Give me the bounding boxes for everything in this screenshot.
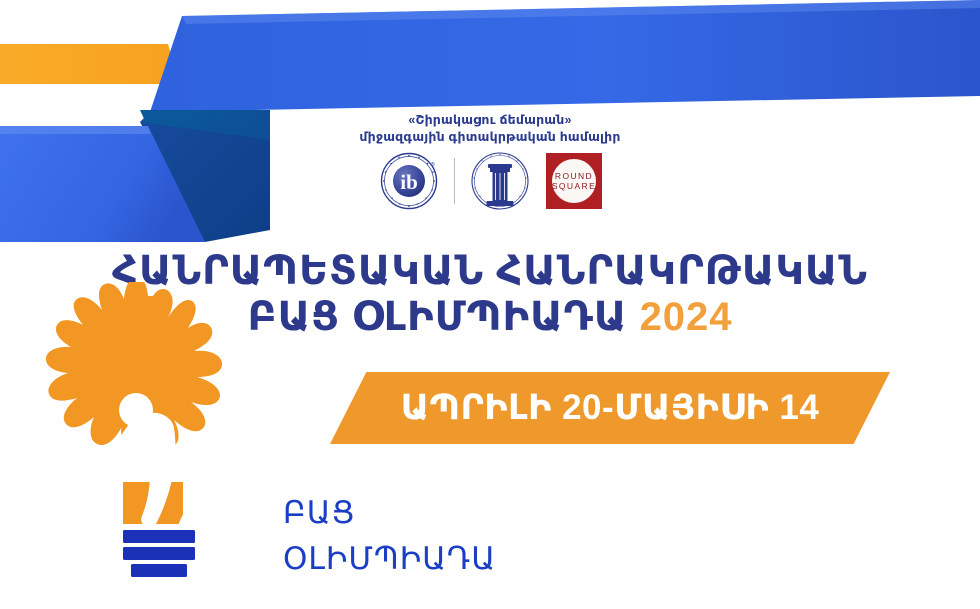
ribbon-upper-blue-band [150, 0, 980, 112]
ribbon-orange-band [0, 44, 180, 84]
ribbon-upper-bevel [182, 0, 980, 24]
svg-text:SQUARE: SQUARE [551, 181, 595, 191]
institution-line-2: միջազգային գիտակրթական համալիր [0, 129, 980, 146]
headline-year: 2024 [640, 295, 733, 339]
svg-text:®: ® [431, 161, 435, 168]
round-square-logo: ROUND SQUARE [545, 152, 603, 210]
olympiad-poster: «Շիրակացու ճեմարան» միջազգային գիտակրթակ… [0, 0, 980, 609]
brand-lockup: ԲԱՑ ՕԼԻՄՊԻԱԴԱ [28, 282, 508, 602]
logo-divider [454, 158, 455, 204]
ib-world-school-logo: ib ® [378, 150, 440, 212]
brand-name-line-1: ԲԱՑ [283, 490, 496, 536]
institution-line-1: «Շիրակացու ճեմարան» [0, 112, 980, 129]
institution-name: «Շիրակացու ճեմարան» միջազգային գիտակրթակ… [0, 112, 980, 146]
lightbulb-people-icon [28, 282, 278, 582]
brand-name: ԲԱՑ ՕԼԻՄՊԻԱԴԱ [283, 490, 496, 582]
bulb-base-stripes [123, 530, 195, 577]
brand-name-line-2: ՕԼԻՄՊԻԱԴԱ [283, 536, 496, 582]
svg-text:ROUND: ROUND [554, 171, 592, 181]
svg-text:ib: ib [400, 170, 418, 194]
accreditation-logos: ib ® [0, 150, 980, 212]
shirakatsy-column-seal-logo [469, 150, 531, 212]
